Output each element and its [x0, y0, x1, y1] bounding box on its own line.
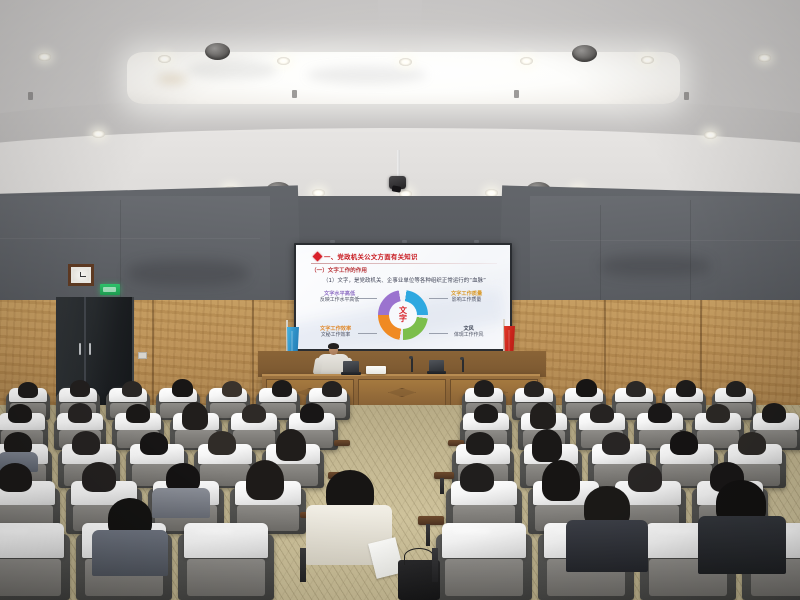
leader-line [429, 298, 448, 299]
door-handle[interactable] [89, 343, 91, 355]
seat-leg [440, 478, 444, 494]
wall-clock [68, 264, 94, 286]
attendee-hair [242, 404, 266, 423]
donut-label-bottom-left: 文字工作效率 文秘工作效率 [320, 326, 351, 338]
ceiling-speaker [572, 45, 597, 62]
attendee-torso [152, 488, 210, 518]
door-handle[interactable] [79, 343, 81, 355]
diamond-bullet-icon [313, 252, 323, 262]
leader-line [429, 333, 448, 334]
exit-sign-icon [100, 284, 120, 295]
attendee-long-hair [530, 402, 556, 429]
document-papers [366, 366, 386, 374]
attendee-long-hair [276, 429, 306, 461]
attendee-hair [738, 432, 766, 455]
attendee-hair [706, 404, 730, 423]
attendee-hair [126, 404, 150, 423]
downlight [277, 57, 290, 65]
attendee-hair [524, 381, 544, 397]
donut-label-sub: 文秘工作效率 [320, 332, 351, 338]
attendee-torso [566, 520, 648, 572]
attendee-hair [670, 431, 698, 455]
attendee-hair [626, 381, 646, 397]
ceiling-speaker [205, 43, 230, 60]
attendee-hair [172, 379, 193, 397]
projector-lens-icon [392, 185, 402, 192]
attendee-hair [0, 463, 32, 492]
attendee-hair [222, 381, 242, 397]
attendee-hair [8, 404, 32, 423]
donut-center-char-2: 字 [399, 315, 407, 324]
attendee-hair [590, 404, 614, 423]
slide-title: 一、党政机关公文方面有关知识 [324, 252, 418, 261]
attendee-hair [70, 380, 90, 397]
attendee-hair [68, 403, 92, 423]
attendee-hair [460, 463, 494, 492]
leader-line [358, 333, 377, 334]
desk-microphone [411, 358, 413, 372]
attendee-hair [474, 380, 494, 397]
downlight [38, 53, 51, 61]
downlight [758, 54, 771, 62]
attendee-hair [72, 431, 100, 455]
donut-label-sub: 反映工作水平高低 [320, 297, 359, 303]
slide-title-row: 一、党政机关公文方面有关知识 [314, 252, 418, 261]
attendee-hair [122, 381, 142, 397]
attendee-hair [648, 403, 672, 423]
seat-leg [300, 548, 306, 582]
attendee-long-hair [542, 460, 580, 501]
donut-label-sub: 体现工作作风 [454, 332, 483, 338]
attendee-hair [300, 403, 324, 423]
sprinkler [514, 90, 519, 98]
slide-title-underline [311, 263, 497, 264]
sprinkler [684, 92, 689, 100]
seat[interactable] [0, 534, 70, 600]
microphone-head-icon [460, 357, 464, 360]
seat-leg [432, 548, 438, 582]
donut-label-top-right: 文字工作质量 影响工作质量 [451, 291, 482, 303]
donut-label-top-left: 文字水平高低 反映工作水平高低 [320, 291, 359, 303]
donut-diagram: 文 字 [378, 290, 428, 340]
speaker-hair [328, 343, 339, 349]
attendee-hair [272, 380, 292, 397]
attendee-hair [576, 379, 597, 397]
wall-socket [138, 352, 147, 359]
attendee-hair [466, 432, 494, 455]
attendee-torso [698, 516, 786, 574]
donut-label-bottom-right: 文风 体现工作作风 [454, 326, 483, 338]
attendee-hair [726, 381, 746, 397]
attendee-long-hair [532, 429, 562, 462]
slide-section-heading: （一）文字工作的作用 [311, 266, 367, 274]
handbag-handle [404, 548, 434, 565]
auditorium-photo: 一、党政机关公文方面有关知识 （一）文字工作的作用 （1）文字，是党政机关、企事… [0, 0, 800, 600]
donut-label-sub: 影响工作质量 [451, 297, 482, 303]
attendee-hair [322, 381, 342, 397]
laptop-base [427, 371, 446, 374]
leader-line [358, 298, 377, 299]
attendee-hair [474, 404, 498, 423]
attendee-long-hair [246, 460, 284, 500]
attendee-long-hair [182, 402, 208, 430]
attendee-torso [92, 530, 168, 576]
downlight [158, 55, 171, 63]
desk-microphone [462, 359, 464, 372]
attendee-hair [602, 432, 630, 455]
slide-body-text: （1）文字，是党政机关、企事业单位等各种组织正常运行的“血脉” [323, 276, 486, 284]
seat-armrest [434, 472, 454, 479]
attendee-hair [82, 462, 116, 492]
donut-center-label: 文 字 [378, 290, 428, 340]
laptop-base [341, 372, 361, 375]
microphone-head-icon [409, 356, 413, 359]
downlight [641, 56, 654, 64]
attendee-hair [762, 403, 786, 423]
seat[interactable] [178, 534, 274, 600]
downlight [399, 58, 412, 66]
attendee-hair [208, 431, 236, 455]
downlight [92, 130, 105, 138]
attendee-hair [628, 463, 662, 492]
sprinkler [292, 90, 297, 98]
attendee-hair [18, 382, 38, 398]
seat[interactable] [436, 534, 532, 600]
attendee-hair [676, 380, 696, 397]
sprinkler [28, 92, 33, 100]
seat-armrest [418, 516, 444, 525]
downlight [520, 57, 533, 65]
downlight [704, 131, 717, 139]
seat-armrest [334, 440, 350, 446]
attendee-hair [140, 432, 168, 455]
seat-leg [426, 524, 430, 546]
projection-screen[interactable]: 一、党政机关公文方面有关知识 （一）文字工作的作用 （1）文字，是党政机关、企事… [296, 245, 510, 349]
